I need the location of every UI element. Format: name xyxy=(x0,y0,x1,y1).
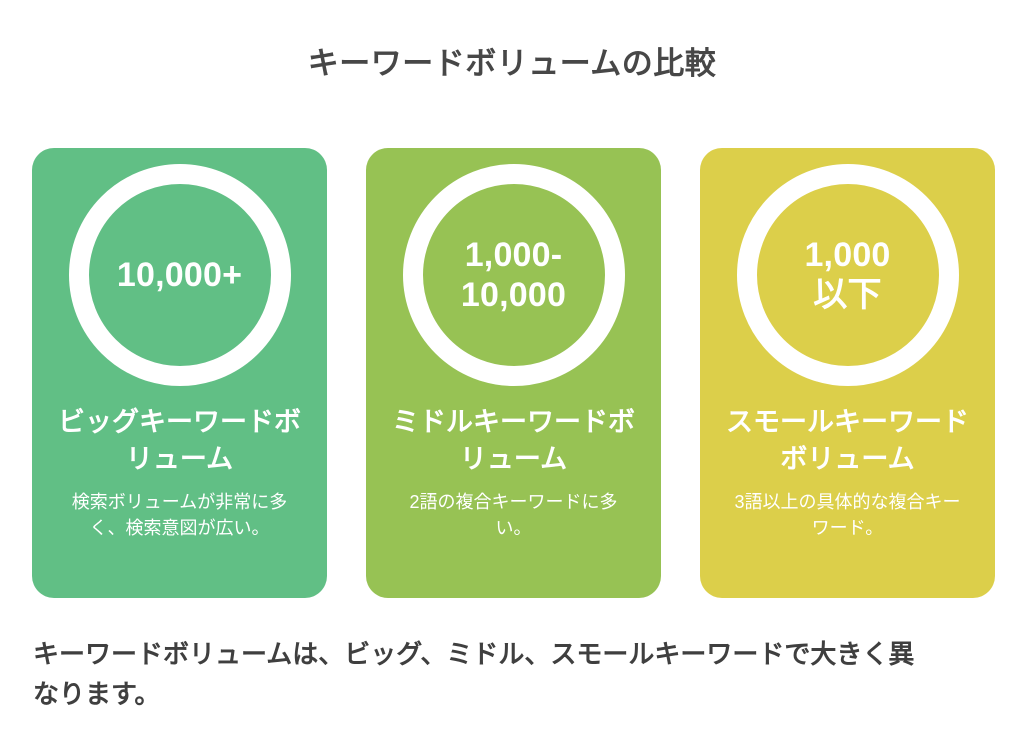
card-title-small-keyword: スモールキーワードボリューム xyxy=(722,404,974,478)
card-row: 10,000+ ビッグキーワードボリューム 検索ボリュームが非常に多く、検索意図… xyxy=(32,148,995,598)
ring-value-small-keyword: 1,000 以下 xyxy=(798,235,896,315)
card-small-keyword[interactable]: 1,000 以下 スモールキーワードボリューム 3語以上の具体的な複合キーワード… xyxy=(700,148,995,598)
card-title-middle-keyword: ミドルキーワードボリューム xyxy=(388,404,640,478)
summary-caption: キーワードボリュームは、ビッグ、ミドル、スモールキーワードで大きく異なります。 xyxy=(33,634,933,714)
card-big-keyword[interactable]: 10,000+ ビッグキーワードボリューム 検索ボリュームが非常に多く、検索意図… xyxy=(32,148,327,598)
card-description-small-keyword: 3語以上の具体的な複合キーワード。 xyxy=(732,489,964,541)
ring-value-big-keyword: 10,000+ xyxy=(111,255,248,295)
card-title-big-keyword: ビッグキーワードボリューム xyxy=(54,404,306,478)
ring-value-middle-keyword: 1,000- 10,000 xyxy=(455,235,572,315)
infographic-root: キーワードボリュームの比較 10,000+ ビッグキーワードボリューム 検索ボリ… xyxy=(0,0,1024,745)
ring-big-keyword: 10,000+ xyxy=(69,164,291,386)
ring-small-keyword: 1,000 以下 xyxy=(737,164,959,386)
card-description-big-keyword: 検索ボリュームが非常に多く、検索意図が広い。 xyxy=(64,489,296,541)
page-title: キーワードボリュームの比較 xyxy=(0,45,1024,82)
card-middle-keyword[interactable]: 1,000- 10,000 ミドルキーワードボリューム 2語の複合キーワードに多… xyxy=(366,148,661,598)
card-description-middle-keyword: 2語の複合キーワードに多い。 xyxy=(398,489,630,541)
ring-middle-keyword: 1,000- 10,000 xyxy=(403,164,625,386)
